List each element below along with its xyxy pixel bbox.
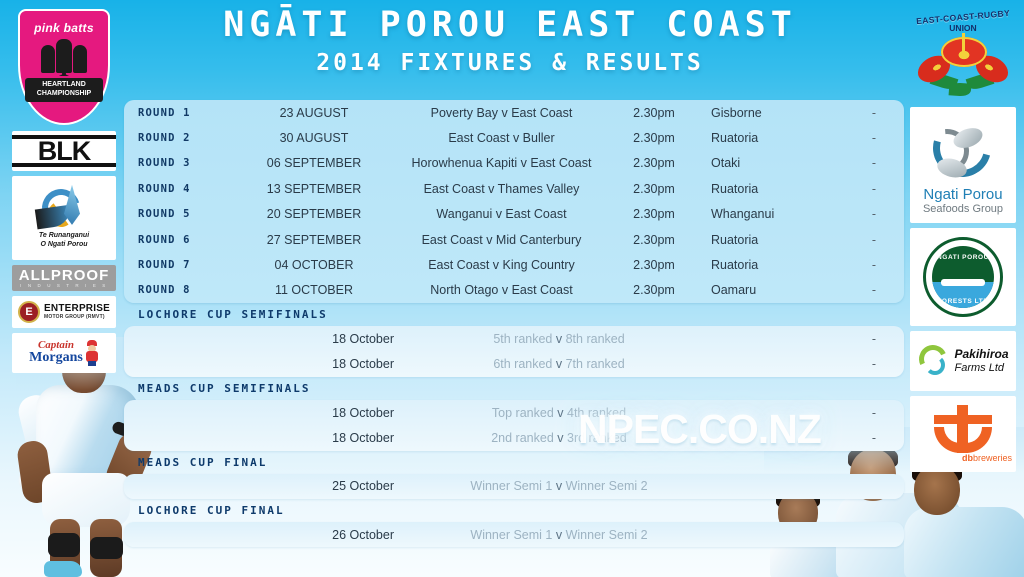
cup-date: 18 October — [124, 431, 394, 445]
fixture-venue: Ruatoria — [699, 182, 844, 196]
cup-home: 5th ranked — [493, 332, 552, 346]
pink-batts-wordmark: pink batts — [34, 21, 94, 35]
cup-home: Winner Semi 1 — [470, 479, 552, 493]
fixture-match: Wanganui v East Coast — [394, 207, 609, 221]
fixture-venue: Whanganui — [699, 207, 844, 221]
cup-versus: v — [556, 332, 562, 346]
section-heading: MEADS CUP FINAL — [124, 451, 904, 474]
fixture-row: ROUND 306 SEPTEMBERHorowhenua Kapiti v E… — [124, 151, 904, 176]
cup-versus: v — [556, 357, 562, 371]
fern-swirl-icon — [917, 341, 951, 381]
fixture-time: 2.30pm — [609, 156, 699, 170]
cup-fixture-row: 18 October6th ranked v 7th ranked- — [124, 352, 904, 377]
fixture-time: 2.30pm — [609, 233, 699, 247]
cup-result: - — [844, 431, 904, 445]
fixture-date: 23 AUGUST — [234, 106, 394, 120]
fixture-result: - — [844, 258, 904, 272]
cup-match: 2nd ranked v 3rd ranked — [394, 431, 844, 445]
cup-match: Top ranked v 4th ranked — [394, 406, 844, 420]
cup-home: Winner Semi 1 — [470, 528, 552, 542]
enterprise-badge-icon: E — [18, 301, 40, 323]
rugby-ball — [14, 458, 58, 498]
fixture-venue: Oamaru — [699, 283, 844, 297]
te-runanganui-label: Te Runanganui O Ngati Porou — [39, 231, 89, 249]
cup-fixture-row: 18 October5th ranked v 8th ranked- — [124, 326, 904, 351]
fixture-result: - — [844, 106, 904, 120]
fixture-date: 30 AUGUST — [234, 131, 394, 145]
cup-date: 18 October — [124, 406, 394, 420]
cup-match: 6th ranked v 7th ranked — [394, 357, 844, 371]
seafoods-koru-shell-icon — [923, 115, 1003, 187]
cup-match: Winner Semi 1 v Winner Semi 2 — [394, 479, 844, 493]
fixture-round: ROUND 8 — [124, 284, 234, 296]
fixtures-board: ROUND 123 AUGUSTPoverty Bay v East Coast… — [124, 100, 904, 547]
fixture-result: - — [844, 156, 904, 170]
cup-away: 4th ranked — [567, 406, 626, 420]
fixture-date: 11 OCTOBER — [234, 283, 394, 297]
cup-match: 5th ranked v 8th ranked — [394, 332, 844, 346]
cup-versus: v — [556, 479, 562, 493]
cup-panel: 25 OctoberWinner Semi 1 v Winner Semi 2 — [124, 474, 904, 499]
section-heading: MEADS CUP SEMIFINALS — [124, 377, 904, 400]
logo-pakihiroa-farms-ltd[interactable]: Pakihiroa Farms Ltd — [910, 331, 1016, 391]
fixture-time: 2.30pm — [609, 207, 699, 221]
fixture-row: ROUND 413 SEPTEMBEREast Coast v Thames V… — [124, 176, 904, 201]
logo-captain-morgans[interactable]: Captain Morgans — [12, 333, 116, 373]
cup-panel: 26 OctoberWinner Semi 1 v Winner Semi 2 — [124, 522, 904, 547]
cup-versus: v — [557, 406, 563, 420]
cup-versus: v — [557, 431, 563, 445]
shield-icon: pink batts HEARTLAND CHAMPIONSHIP — [18, 9, 110, 125]
cup-away: 7th ranked — [566, 357, 625, 371]
fixture-result: - — [844, 233, 904, 247]
fixture-date: 06 SEPTEMBER — [234, 156, 394, 170]
fixture-match: East Coast v King Country — [394, 258, 609, 272]
fixture-round: ROUND 5 — [124, 208, 234, 220]
sponsor-rail-left: pink batts HEARTLAND CHAMPIONSHIP BLK Te — [12, 8, 116, 373]
section-heading: LOCHORE CUP SEMIFINALS — [124, 303, 904, 326]
fixture-row: ROUND 627 SEPTEMBEREast Coast v Mid Cant… — [124, 227, 904, 252]
cup-fixture-row: 18 October2nd ranked v 3rd ranked- — [124, 425, 904, 450]
logo-te-runanganui-o-ngati-porou[interactable]: Te Runanganui O Ngati Porou — [12, 176, 116, 260]
page-title: NGĀTI POROU EAST COAST — [124, 4, 896, 48]
cup-fixture-row: 26 OctoberWinner Semi 1 v Winner Semi 2 — [124, 522, 904, 547]
union-label: UNION — [949, 23, 976, 33]
cup-fixture-row: 18 OctoberTop ranked v 4th ranked- — [124, 400, 904, 425]
fixture-venue: Ruatoria — [699, 258, 844, 272]
cup-panel: 18 OctoberTop ranked v 4th ranked-18 Oct… — [124, 400, 904, 451]
forests-top-label: NGATI POROU — [932, 254, 994, 261]
cup-away: 3rd ranked — [567, 431, 627, 445]
cup-sections: LOCHORE CUP SEMIFINALS18 October5th rank… — [124, 303, 904, 547]
fixture-match: Horowhenua Kapiti v East Coast — [394, 156, 609, 170]
koru-icon — [34, 187, 94, 231]
cup-result: - — [844, 406, 904, 420]
fixture-round: ROUND 1 — [124, 107, 234, 119]
fixture-match: Poverty Bay v East Coast — [394, 106, 609, 120]
fixture-venue: Ruatoria — [699, 131, 844, 145]
poster-header: NGĀTI POROU EAST COAST 2014 FIXTURES & R… — [124, 4, 896, 76]
fixture-row: ROUND 811 OCTOBERNorth Otago v East Coas… — [124, 278, 904, 303]
fixture-venue: Otaki — [699, 156, 844, 170]
cup-versus: v — [556, 528, 562, 542]
fixture-match: East Coast v Buller — [394, 131, 609, 145]
fixture-time: 2.30pm — [609, 182, 699, 196]
fixture-venue: Gisborne — [699, 106, 844, 120]
fixture-match: East Coast v Thames Valley — [394, 182, 609, 196]
fixture-round: ROUND 2 — [124, 132, 234, 144]
cup-fixture-row: 25 OctoberWinner Semi 1 v Winner Semi 2 — [124, 474, 904, 499]
fixture-round: ROUND 4 — [124, 183, 234, 195]
fixture-date: 27 SEPTEMBER — [234, 233, 394, 247]
fixture-row: ROUND 704 OCTOBEREast Coast v King Count… — [124, 252, 904, 277]
cup-date: 25 October — [124, 479, 394, 493]
fixture-time: 2.30pm — [609, 106, 699, 120]
logo-ngati-porou-seafoods-group[interactable]: Ngati Porou Seafoods Group — [910, 107, 1016, 223]
logo-db-breweries[interactable]: dbbreweries — [910, 396, 1016, 472]
logo-blk[interactable]: BLK — [12, 131, 116, 171]
sailor-mascot-icon — [85, 340, 99, 366]
blk-wordmark: BLK — [38, 136, 91, 167]
fixture-round: ROUND 3 — [124, 157, 234, 169]
pakihiroa-wordmark: Pakihiroa — [954, 348, 1008, 361]
pohutukawa-flower-icon — [915, 35, 1011, 97]
farms-ltd-label: Farms Ltd — [954, 362, 1008, 374]
fixture-date: 13 SEPTEMBER — [234, 182, 394, 196]
forests-roundel-icon: NGATI POROU FORESTS LTD — [923, 237, 1003, 317]
cup-home: 2nd ranked — [491, 431, 554, 445]
cup-date: 18 October — [124, 357, 394, 371]
page-subtitle: 2014 FIXTURES & RESULTS — [124, 50, 896, 76]
round-fixtures-panel: ROUND 123 AUGUSTPoverty Bay v East Coast… — [124, 100, 904, 303]
logo-ngati-porou-forests-ltd[interactable]: NGATI POROU FORESTS LTD — [910, 228, 1016, 326]
photo-player-3 — [904, 455, 1024, 577]
logo-east-coast-rugby-union[interactable]: EAST-COAST-RUGBY UNION — [910, 6, 1016, 102]
section-heading: LOCHORE CUP FINAL — [124, 499, 904, 522]
cup-result: - — [844, 357, 904, 371]
cup-date: 18 October — [124, 332, 394, 346]
forests-bottom-label: FORESTS LTD — [932, 298, 994, 305]
db-breweries-wordmark: dbbreweries — [962, 453, 1012, 463]
db-anchor-icon — [930, 405, 996, 453]
cup-away: Winner Semi 2 — [566, 528, 648, 542]
fixture-result: - — [844, 283, 904, 297]
cup-result: - — [844, 332, 904, 346]
heartland-championship-label: HEARTLAND CHAMPIONSHIP — [25, 78, 103, 102]
fixture-row: ROUND 230 AUGUSTEast Coast v Buller2.30p… — [124, 125, 904, 150]
allproof-subtitle: I N D U S T R I E S — [20, 283, 108, 288]
logo-pink-batts-heartland-championship[interactable]: pink batts HEARTLAND CHAMPIONSHIP — [12, 8, 116, 126]
fixture-time: 2.30pm — [609, 131, 699, 145]
seafoods-group-label: Seafoods Group — [923, 203, 1003, 215]
fixture-match: East Coast v Mid Canterbury — [394, 233, 609, 247]
fixture-time: 2.30pm — [609, 258, 699, 272]
fixture-result: - — [844, 207, 904, 221]
fixture-row: ROUND 520 SEPTEMBERWanganui v East Coast… — [124, 202, 904, 227]
enterprise-subtitle: MOTOR GROUP (RMVT) — [44, 315, 110, 321]
fixture-round: ROUND 7 — [124, 259, 234, 271]
fixture-row: ROUND 123 AUGUSTPoverty Bay v East Coast… — [124, 100, 904, 125]
sponsor-rail-right: EAST-COAST-RUGBY UNION Ngati Porou Seafo… — [910, 6, 1016, 472]
fixture-time: 2.30pm — [609, 283, 699, 297]
cup-date: 26 October — [124, 528, 394, 542]
cup-away: Winner Semi 2 — [566, 479, 648, 493]
cup-panel: 18 October5th ranked v 8th ranked-18 Oct… — [124, 326, 904, 377]
fixture-date: 04 OCTOBER — [234, 258, 394, 272]
cup-away: 8th ranked — [566, 332, 625, 346]
fixture-match: North Otago v East Coast — [394, 283, 609, 297]
fixture-date: 20 SEPTEMBER — [234, 207, 394, 221]
fixture-venue: Ruatoria — [699, 233, 844, 247]
logo-allproof-industries[interactable]: ALLPROOF I N D U S T R I E S — [12, 265, 116, 291]
fixture-round: ROUND 6 — [124, 234, 234, 246]
cup-home: 6th ranked — [493, 357, 552, 371]
morgans-wordmark: Morgans — [29, 351, 83, 366]
logo-enterprise-motor-group[interactable]: E ENTERPRISE MOTOR GROUP (RMVT) — [12, 296, 116, 328]
ngati-porou-wordmark: Ngati Porou — [923, 187, 1002, 203]
allproof-wordmark: ALLPROOF — [19, 268, 110, 283]
fixture-result: - — [844, 182, 904, 196]
cup-home: Top ranked — [492, 406, 554, 420]
fixture-result: - — [844, 131, 904, 145]
cup-match: Winner Semi 1 v Winner Semi 2 — [394, 528, 844, 542]
